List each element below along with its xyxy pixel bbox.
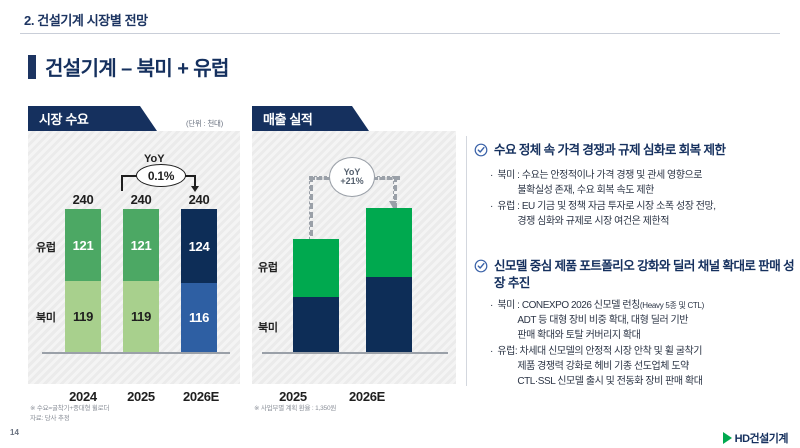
insight-2-b1-small: (Heavy 5종 및 CTL) xyxy=(640,301,704,310)
left-total-2026e: 240 xyxy=(176,192,222,207)
header-divider xyxy=(20,33,780,34)
bullet-dot-icon: · xyxy=(490,168,493,198)
right-bar-2025-namerica xyxy=(293,297,339,352)
left-xlabel-2024: 2024 xyxy=(58,389,108,404)
right-xlabel-2025: 2025 xyxy=(268,389,318,404)
chevron-right-icon xyxy=(723,432,732,444)
left-bar-2026e-namerica: 116 xyxy=(181,283,217,352)
insight-2-b2-line1: 유럽: 차세대 신모델의 안정적 시장 안착 및 휠 굴착기 xyxy=(497,346,702,357)
insight-1-b1-line2: 불확실성 존재, 수요 회복 속도 제한 xyxy=(497,183,702,198)
insight-2-b2-line3: CTL·SSL 신모델 출시 및 전동화 장비 판매 확대 xyxy=(497,374,702,389)
right-chart-note-1: ※ 사업부별 계획 환율 : 1,350원 xyxy=(254,404,336,414)
left-chart-note-2: 자료: 당사 추정 xyxy=(30,414,70,424)
right-bar-2026e-namerica xyxy=(366,277,412,352)
left-bar-2024-europe: 121 xyxy=(65,209,101,281)
left-bar-2026e-europe: 124 xyxy=(181,209,217,283)
list-item: · 유럽: 차세대 신모델의 안정적 시장 안착 및 휠 굴착기 제품 경쟁력 … xyxy=(490,344,796,389)
right-bar-2026e xyxy=(366,208,412,352)
insight-2-b2-line2: 제품 경쟁력 강화로 헤비 기종 선도업체 도약 xyxy=(497,359,702,374)
insight-2-header: 신모델 중심 제품 포트폴리오 강화와 딜러 채널 확대로 판매 성장 추진 xyxy=(474,258,796,292)
insight-1-b1-line1: 북미 : 수요는 안정적이나 가격 경쟁 및 관세 영향으로 xyxy=(497,170,702,181)
logo-text: HD건설기계 xyxy=(735,430,788,446)
insight-2-b1-line2: ADT 등 대형 장비 비중 확대, 대형 딜러 기반 xyxy=(497,313,704,328)
left-yoy-value: 0.1% xyxy=(136,164,186,187)
list-item: · 북미 : CONEXPO 2026 신모델 런칭(Heavy 5종 및 CT… xyxy=(490,298,796,343)
page-number: 14 xyxy=(10,428,19,437)
insight-section-2: 신모델 중심 제품 포트폴리오 강화와 딜러 채널 확대로 판매 성장 추진 ·… xyxy=(474,258,796,390)
left-total-2025: 240 xyxy=(118,192,164,207)
right-row-label-europe: 유럽 xyxy=(258,259,278,275)
headline-text: 건설기계 – 북미 + 유럽 xyxy=(45,52,229,81)
left-row-label-namerica: 북미 xyxy=(36,309,56,325)
insight-1-header: 수요 정체 속 가격 경쟁과 규제 심화로 회복 제한 xyxy=(474,142,796,162)
right-xlabel-2026e: 2026E xyxy=(340,389,394,404)
right-x-axis xyxy=(262,352,448,354)
left-yoy-leader-v1 xyxy=(121,175,123,191)
list-item: · 북미 : 수요는 안정적이나 가격 경쟁 및 관세 영향으로 불확실성 존재… xyxy=(490,168,796,198)
bullet-dot-icon: · xyxy=(490,298,493,343)
bullet-dot-icon: · xyxy=(490,344,493,389)
right-bar-2025 xyxy=(293,239,339,352)
insight-1-title: 수요 정체 속 가격 경쟁과 규제 심화로 회복 제한 xyxy=(494,142,725,159)
right-bar-2026e-europe xyxy=(366,208,412,277)
left-chart-note-1: ※ 수요=굴착기+중대형 휠로더 xyxy=(30,404,109,414)
market-demand-chart: YoY 0.1% 240 240 240 121 119 121 119 xyxy=(28,131,240,384)
left-chart-unit: (단위 : 천대) xyxy=(186,118,223,129)
insight-2-b1-line1: 북미 : CONEXPO 2026 신모델 런칭 xyxy=(497,300,640,311)
left-row-label-europe: 유럽 xyxy=(36,239,56,255)
left-x-axis xyxy=(42,352,230,354)
tab-sales-results: 매출 실적 xyxy=(252,106,369,131)
insight-1-b2-line1: 유럽 : EU 기금 및 정책 자금 투자로 시장 소폭 성장 전망, xyxy=(497,201,715,212)
check-circle-icon xyxy=(474,143,488,162)
headline: 건설기계 – 북미 + 유럽 xyxy=(28,52,229,81)
insight-section-1: 수요 정체 속 가격 경쟁과 규제 심화로 회복 제한 · 북미 : 수요는 안… xyxy=(474,142,796,230)
insight-2-title: 신모델 중심 제품 포트폴리오 강화와 딜러 채널 확대로 판매 성장 추진 xyxy=(494,258,796,292)
right-yoy-callout: YoY +21% xyxy=(329,157,375,197)
right-row-label-namerica: 북미 xyxy=(258,319,278,335)
insight-1-b2-line2: 경쟁 심화와 규제로 시장 여건은 제한적 xyxy=(497,214,715,229)
left-bar-2025-namerica: 119 xyxy=(123,281,159,352)
right-bar-2025-europe xyxy=(293,239,339,297)
headline-accent-bar xyxy=(28,55,36,79)
left-bar-2025: 121 119 xyxy=(123,209,159,352)
company-logo: HD건설기계 xyxy=(723,430,788,446)
right-yoy-leader-v1 xyxy=(309,176,313,245)
insight-2-b1-line3: 판매 확대와 토탈 커버리지 확대 xyxy=(497,328,704,343)
page-title: 2. 건설기계 시장별 전망 xyxy=(24,10,148,29)
insight-2-bullets: · 북미 : CONEXPO 2026 신모델 런칭(Heavy 5종 및 CT… xyxy=(490,298,796,389)
right-yoy-value: +21% xyxy=(340,177,363,186)
bullet-dot-icon: · xyxy=(490,199,493,229)
left-total-2024: 240 xyxy=(60,192,106,207)
tab-market-demand: 시장 수요 xyxy=(28,106,157,131)
list-item: · 유럽 : EU 기금 및 정책 자금 투자로 시장 소폭 성장 전망, 경쟁… xyxy=(490,199,796,229)
content-divider xyxy=(466,136,467,386)
left-bar-2026e: 124 116 xyxy=(181,209,217,352)
left-bar-2024: 121 119 xyxy=(65,209,101,352)
insight-1-bullets: · 북미 : 수요는 안정적이나 가격 경쟁 및 관세 영향으로 불확실성 존재… xyxy=(490,168,796,229)
sales-results-chart: YoY +21% 유럽 북미 xyxy=(252,131,456,384)
left-xlabel-2026e: 2026E xyxy=(174,389,228,404)
left-bar-2025-europe: 121 xyxy=(123,209,159,281)
slide: 2. 건설기계 시장별 전망 건설기계 – 북미 + 유럽 시장 수요 (단위 … xyxy=(0,0,800,448)
check-circle-icon xyxy=(474,259,488,278)
left-bar-2024-namerica: 119 xyxy=(65,281,101,352)
left-xlabel-2025: 2025 xyxy=(116,389,166,404)
right-yoy-arrow xyxy=(389,201,397,208)
